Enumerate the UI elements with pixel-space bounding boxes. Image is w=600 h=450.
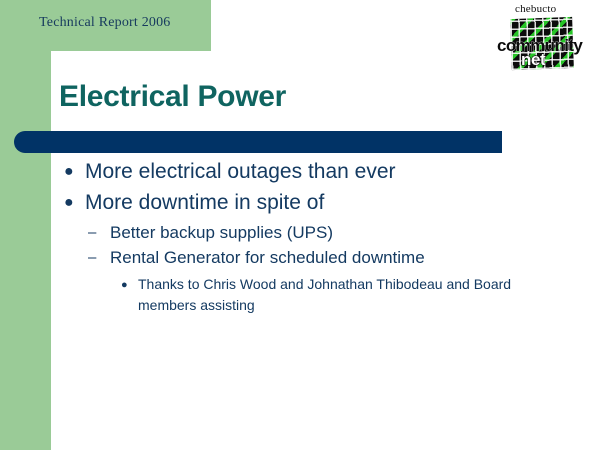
list-item: ● More electrical outages than ever <box>0 158 600 186</box>
slide-canvas: Technical Report 2006 chebucto community… <box>0 0 600 450</box>
list-item-label: More downtime in spite of <box>85 189 600 217</box>
bullet-list: ● More electrical outages than ever ● Mo… <box>0 158 600 316</box>
list-item-label: Better backup supplies (UPS) <box>110 220 600 245</box>
dash-marker-icon: – <box>88 247 96 269</box>
bullet-marker-icon: ● <box>121 275 128 295</box>
list-item: ● More downtime in spite of <box>0 189 600 217</box>
list-item: ● Thanks to Chris Wood and Johnathan Thi… <box>0 274 600 316</box>
list-item-label: Rental Generator for scheduled downtime <box>110 245 600 270</box>
list-item-label: Thanks to Chris Wood and Johnathan Thibo… <box>138 274 540 316</box>
list-item: – Better backup supplies (UPS) <box>0 220 600 245</box>
logo-word-chebucto: chebucto <box>515 3 556 15</box>
report-label: Technical Report 2006 <box>39 15 171 31</box>
dash-marker-icon: – <box>88 222 96 244</box>
chebucto-community-net-logo: chebucto community net <box>497 3 589 71</box>
list-item-label: More electrical outages than ever <box>85 158 600 186</box>
title-underline-bar <box>14 131 502 153</box>
bullet-marker-icon: ● <box>64 162 74 182</box>
list-item: – Rental Generator for scheduled downtim… <box>0 245 600 270</box>
page-title: Electrical Power <box>59 80 286 114</box>
logo-word-net: net <box>521 50 545 70</box>
bullet-marker-icon: ● <box>64 193 74 213</box>
